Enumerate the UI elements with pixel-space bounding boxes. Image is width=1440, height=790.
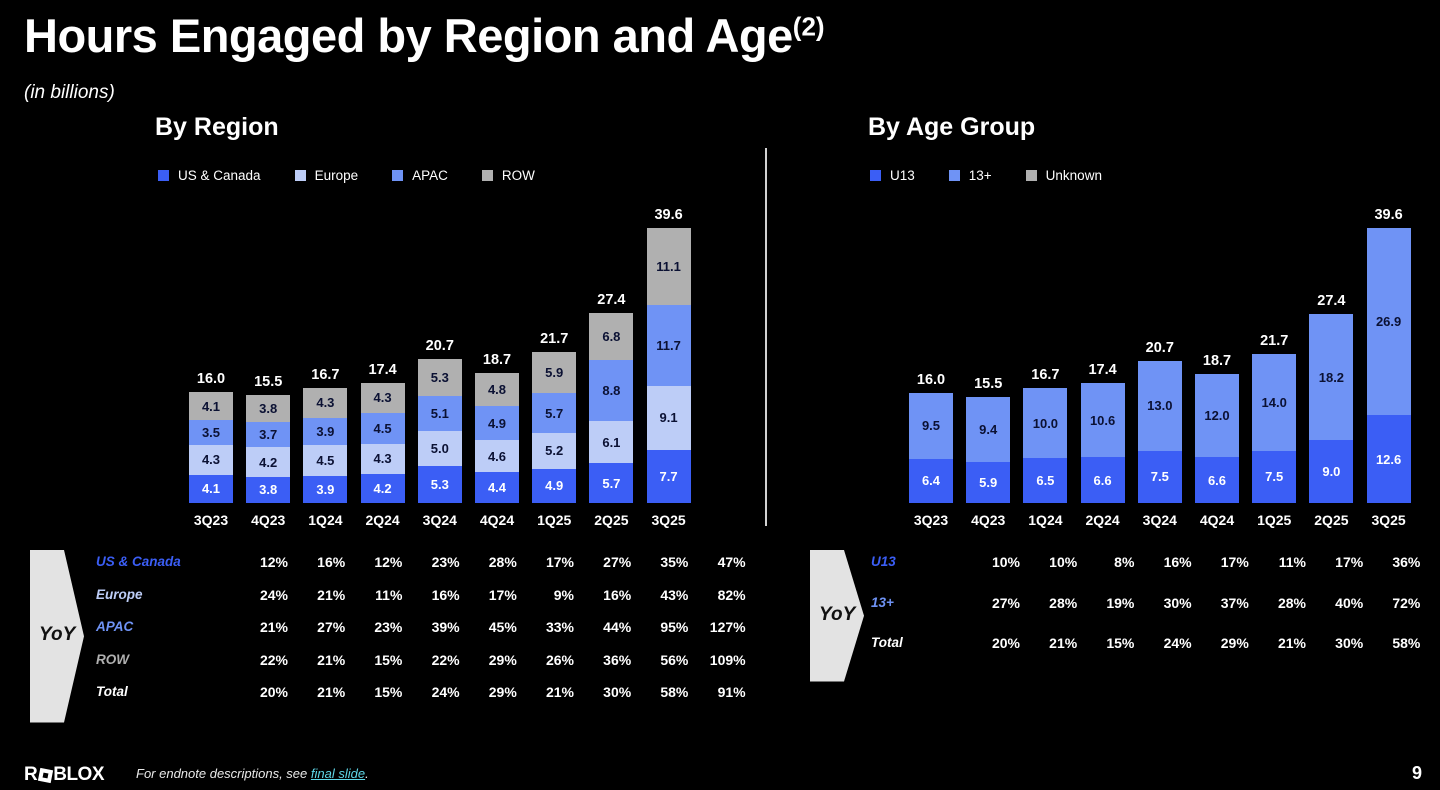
age-segment-13: 9.4 <box>966 397 1010 462</box>
age-total-label: 16.0 <box>909 372 953 388</box>
legend-swatch-icon <box>870 170 881 181</box>
age-yoy-cell: 67% <box>1434 554 1440 570</box>
region-yoy-cell: 23% <box>416 554 460 570</box>
region-yoy-cell: 82% <box>702 587 746 603</box>
region-yoy-cell: 109% <box>702 652 746 668</box>
age-segment-u13: 7.5 <box>1138 451 1182 503</box>
age-bar-2q25[interactable]: 18.29.0 <box>1309 314 1353 503</box>
right-legend-item-u13[interactable]: U13 <box>870 168 915 183</box>
region-yoy-row: US & Canada12%16%12%23%28%17%27%35%47% <box>96 554 759 574</box>
region-segment-apac: 5.7 <box>532 393 576 433</box>
region-yoy-row-label-europe: Europe <box>96 587 143 602</box>
right-legend-item-13[interactable]: 13+ <box>949 168 992 183</box>
age-segment-u13: 6.5 <box>1023 458 1067 503</box>
left-panel-title: By Region <box>155 113 279 142</box>
region-segment-apac: 11.7 <box>647 305 691 386</box>
region-yoy-cell: 21% <box>530 684 574 700</box>
age-yoy-row: Total20%21%15%24%29%21%30%58%91% <box>871 635 1440 655</box>
left-legend-item-europe[interactable]: Europe <box>295 168 359 183</box>
region-bar-3q24[interactable]: 5.35.15.05.3 <box>418 359 462 503</box>
region-total-label: 15.5 <box>246 374 290 390</box>
age-segment-u13: 6.6 <box>1195 457 1239 503</box>
age-yoy-cell: 107% <box>1434 595 1440 611</box>
age-segment-u13: 6.6 <box>1081 457 1125 503</box>
age-yoy-cell: 20% <box>976 635 1020 651</box>
region-yoy-cell: 58% <box>644 684 688 700</box>
age-yoy-cell: 17% <box>1319 554 1363 570</box>
roblox-logo: RBLOX <box>24 764 104 786</box>
age-bar-1q25[interactable]: 14.07.5 <box>1252 354 1296 503</box>
region-segment-europe: 4.6 <box>475 440 519 472</box>
region-yoy-cell: 45% <box>473 619 517 635</box>
age-segment-13: 9.5 <box>909 393 953 459</box>
age-yoy-row-label-13: 13+ <box>871 595 894 610</box>
age-bar-4q23[interactable]: 9.45.9 <box>966 397 1010 503</box>
age-yoy-cell: 29% <box>1205 635 1249 651</box>
region-segment-europe: 4.3 <box>189 445 233 475</box>
region-segment-europe: 5.0 <box>418 431 462 466</box>
region-bar-3q23[interactable]: 4.13.54.34.1 <box>189 392 233 503</box>
legend-label: Europe <box>315 168 359 183</box>
region-segment-apac: 3.9 <box>303 418 347 445</box>
age-yoy-cell: 40% <box>1319 595 1363 611</box>
legend-swatch-icon <box>949 170 960 181</box>
region-segment-apac: 4.9 <box>475 406 519 440</box>
region-yoy-cell: 21% <box>301 587 345 603</box>
right-chart-legend: U1313+Unknown <box>870 168 1136 183</box>
age-yoy-cell: 11% <box>1262 554 1306 570</box>
region-yoy-cell: 35% <box>644 554 688 570</box>
region-total-label: 27.4 <box>589 292 633 308</box>
region-xaxis-label-4q23: 4Q23 <box>246 512 290 528</box>
region-segment-us-canada: 4.2 <box>361 474 405 503</box>
region-bar-2q24[interactable]: 4.34.54.34.2 <box>361 383 405 503</box>
age-segment-u13: 5.9 <box>966 462 1010 503</box>
region-total-label: 20.7 <box>418 338 462 354</box>
region-yoy-cell: 91% <box>702 684 746 700</box>
by-age-group-chart: 9.56.416.03Q239.45.915.54Q2310.06.516.71… <box>900 190 1440 530</box>
age-total-label: 16.7 <box>1023 367 1067 383</box>
age-bar-3q24[interactable]: 13.07.5 <box>1138 361 1182 503</box>
age-bar-4q24[interactable]: 12.06.6 <box>1195 374 1239 503</box>
region-xaxis-label-3q25: 3Q25 <box>647 512 691 528</box>
age-xaxis-label-2q24: 2Q24 <box>1081 512 1125 528</box>
age-yoy-cell: 28% <box>1262 595 1306 611</box>
age-segment-u13: 12.6 <box>1367 415 1411 503</box>
region-xaxis-label-3q23: 3Q23 <box>189 512 233 528</box>
region-yoy-cell: 22% <box>416 652 460 668</box>
page-title-text: Hours Engaged by Region and Age <box>24 9 793 62</box>
region-yoy-cell: 9% <box>530 587 574 603</box>
age-segment-13: 14.0 <box>1252 354 1296 451</box>
region-yoy-row-label-apac: APAC <box>96 619 133 634</box>
region-yoy-cell: 28% <box>473 554 517 570</box>
page-title: Hours Engaged by Region and Age(2) <box>24 8 825 63</box>
region-yoy-cell: 24% <box>416 684 460 700</box>
region-yoy-row: ROW22%21%15%22%29%26%36%56%109% <box>96 652 759 672</box>
region-yoy-cell: 56% <box>644 652 688 668</box>
age-yoy-cell: 28% <box>1033 595 1077 611</box>
age-total-label: 15.5 <box>966 376 1010 392</box>
region-yoy-cell: 47% <box>702 554 746 570</box>
legend-swatch-icon <box>482 170 493 181</box>
region-segment-us-canada: 3.8 <box>246 477 290 503</box>
by-region-chart: 4.13.54.34.116.03Q233.83.74.23.815.54Q23… <box>180 190 725 530</box>
region-yoy-cell: 23% <box>358 619 402 635</box>
region-yoy-cell: 30% <box>587 684 631 700</box>
age-yoy-cell: 37% <box>1205 595 1249 611</box>
age-yoy-row: U1310%10%8%16%17%11%17%36%67% <box>871 554 1440 574</box>
legend-label: US & Canada <box>178 168 261 183</box>
region-yoy-cell: 17% <box>530 554 574 570</box>
age-segment-u13: 7.5 <box>1252 451 1296 503</box>
age-xaxis-label-4q23: 4Q23 <box>966 512 1010 528</box>
region-segment-row: 4.8 <box>475 373 519 406</box>
region-yoy-cell: 95% <box>644 619 688 635</box>
region-yoy-cell: 11% <box>358 587 402 603</box>
region-segment-apac: 3.7 <box>246 422 290 448</box>
region-yoy-cell: 12% <box>244 554 288 570</box>
region-yoy-cell: 27% <box>587 554 631 570</box>
age-yoy-cell: 27% <box>976 595 1020 611</box>
region-yoy-cell: 24% <box>244 587 288 603</box>
legend-label: APAC <box>412 168 448 183</box>
age-xaxis-label-3q24: 3Q24 <box>1138 512 1182 528</box>
left-legend-item-apac[interactable]: APAC <box>392 168 448 183</box>
roblox-logo-post: BLOX <box>53 764 104 786</box>
region-segment-apac: 3.5 <box>189 420 233 444</box>
region-yoy-cell: 21% <box>301 652 345 668</box>
age-yoy-cell: 19% <box>1090 595 1134 611</box>
region-yoy-cell: 21% <box>244 619 288 635</box>
region-segment-row: 11.1 <box>647 228 691 305</box>
age-yoy-cell: 21% <box>1262 635 1306 651</box>
region-yoy-cell: 39% <box>416 619 460 635</box>
region-yoy-cell: 27% <box>301 619 345 635</box>
age-segment-13: 26.9 <box>1367 228 1411 415</box>
age-yoy-row-label-u13: U13 <box>871 554 896 569</box>
footer-note-after: . <box>365 766 369 781</box>
age-yoy-cell: 16% <box>1148 554 1192 570</box>
left-legend-item-us-canada[interactable]: US & Canada <box>158 168 261 183</box>
age-bar-3q23[interactable]: 9.56.4 <box>909 393 953 503</box>
region-segment-europe: 4.3 <box>361 444 405 474</box>
age-yoy-cell: 8% <box>1090 554 1134 570</box>
region-segment-us-canada: 4.4 <box>475 472 519 503</box>
age-total-label: 17.4 <box>1081 362 1125 378</box>
roblox-logo-pre: R <box>24 764 37 786</box>
age-bar-3q25[interactable]: 26.912.6 <box>1367 228 1411 503</box>
left-yoy-table: YoYUS & Canada12%16%12%23%28%17%27%35%47… <box>28 548 728 713</box>
region-yoy-cell: 16% <box>301 554 345 570</box>
page-subtitle: (in billions) <box>24 82 115 104</box>
age-xaxis-label-2q25: 2Q25 <box>1309 512 1353 528</box>
region-yoy-row-label-total: Total <box>96 684 128 699</box>
region-yoy-row-label-row: ROW <box>96 652 129 667</box>
region-xaxis-label-4q24: 4Q24 <box>475 512 519 528</box>
page-title-superscript: (2) <box>793 11 825 41</box>
region-segment-europe: 4.2 <box>246 447 290 476</box>
region-segment-row: 4.3 <box>361 383 405 413</box>
region-segment-europe: 4.5 <box>303 445 347 476</box>
roblox-logo-o-icon <box>38 767 53 782</box>
age-yoy-cell: 10% <box>1033 554 1077 570</box>
region-yoy-cell: 20% <box>244 684 288 700</box>
legend-swatch-icon <box>158 170 169 181</box>
age-yoy-cell: 36% <box>1376 554 1420 570</box>
legend-swatch-icon <box>1026 170 1037 181</box>
page-number: 9 <box>1412 763 1422 784</box>
age-segment-u13: 6.4 <box>909 459 953 503</box>
region-yoy-cell: 15% <box>358 684 402 700</box>
region-total-label: 18.7 <box>475 352 519 368</box>
age-total-label: 39.6 <box>1367 207 1411 223</box>
age-yoy-row-label-total: Total <box>871 635 903 650</box>
region-segment-us-canada: 3.9 <box>303 476 347 503</box>
region-xaxis-label-2q25: 2Q25 <box>589 512 633 528</box>
region-segment-row: 4.3 <box>303 388 347 418</box>
region-total-label: 39.6 <box>647 207 691 223</box>
footer-note: For endnote descriptions, see final slid… <box>136 766 369 781</box>
age-yoy-cell: 72% <box>1376 595 1420 611</box>
age-total-label: 20.7 <box>1138 340 1182 356</box>
region-yoy-arrow-label: YoY <box>39 624 75 646</box>
region-segment-us-canada: 5.7 <box>589 463 633 503</box>
region-yoy-cell: 44% <box>587 619 631 635</box>
region-yoy-cell: 127% <box>702 619 746 635</box>
region-yoy-cell: 33% <box>530 619 574 635</box>
region-xaxis-label-2q24: 2Q24 <box>361 512 405 528</box>
age-yoy-cell: 17% <box>1205 554 1249 570</box>
legend-label: U13 <box>890 168 915 183</box>
age-xaxis-label-3q25: 3Q25 <box>1367 512 1411 528</box>
age-segment-13: 10.0 <box>1023 388 1067 458</box>
region-bar-4q24[interactable]: 4.84.94.64.4 <box>475 373 519 503</box>
right-panel-title: By Age Group <box>868 113 1035 142</box>
age-xaxis-label-1q24: 1Q24 <box>1023 512 1067 528</box>
region-yoy-cell: 12% <box>358 554 402 570</box>
region-yoy-cell: 26% <box>530 652 574 668</box>
legend-label: Unknown <box>1046 168 1102 183</box>
age-segment-u13: 9.0 <box>1309 440 1353 503</box>
region-yoy-row: Europe24%21%11%16%17%9%16%43%82% <box>96 587 759 607</box>
region-segment-row: 6.8 <box>589 313 633 360</box>
region-segment-europe: 5.2 <box>532 433 576 469</box>
region-segment-us-canada: 5.3 <box>418 466 462 503</box>
region-segment-us-canada: 4.9 <box>532 469 576 503</box>
age-segment-13: 18.2 <box>1309 314 1353 440</box>
region-yoy-row: Total20%21%15%24%29%21%30%58%91% <box>96 684 759 704</box>
region-yoy-cell: 43% <box>644 587 688 603</box>
region-yoy-cell: 29% <box>473 652 517 668</box>
age-total-label: 21.7 <box>1252 333 1296 349</box>
region-segment-row: 5.3 <box>418 359 462 396</box>
slide: Hours Engaged by Region and Age(2) (in b… <box>0 0 1440 790</box>
age-xaxis-label-4q24: 4Q24 <box>1195 512 1239 528</box>
age-total-label: 27.4 <box>1309 293 1353 309</box>
region-yoy-cell: 22% <box>244 652 288 668</box>
age-bar-1q24[interactable]: 10.06.5 <box>1023 388 1067 503</box>
region-bar-3q25[interactable]: 11.111.79.17.7 <box>647 228 691 503</box>
region-segment-row: 5.9 <box>532 352 576 393</box>
region-yoy-cell: 29% <box>473 684 517 700</box>
region-total-label: 17.4 <box>361 362 405 378</box>
region-yoy-cell: 16% <box>587 587 631 603</box>
region-total-label: 16.7 <box>303 367 347 383</box>
region-yoy-cell: 15% <box>358 652 402 668</box>
region-segment-apac: 8.8 <box>589 360 633 421</box>
age-yoy-cell: 15% <box>1090 635 1134 651</box>
age-xaxis-label-3q23: 3Q23 <box>909 512 953 528</box>
age-yoy-cell: 30% <box>1148 595 1192 611</box>
region-yoy-cell: 21% <box>301 684 345 700</box>
region-xaxis-label-1q24: 1Q24 <box>303 512 347 528</box>
region-segment-apac: 4.5 <box>361 413 405 444</box>
legend-label: 13+ <box>969 168 992 183</box>
age-segment-13: 10.6 <box>1081 383 1125 457</box>
left-legend-item-row[interactable]: ROW <box>482 168 535 183</box>
region-segment-europe: 9.1 <box>647 386 691 449</box>
left-chart-legend: US & CanadaEuropeAPACROW <box>158 168 569 183</box>
region-xaxis-label-1q25: 1Q25 <box>532 512 576 528</box>
region-bar-2q25[interactable]: 6.88.86.15.7 <box>589 313 633 503</box>
age-yoy-arrow-label: YoY <box>819 604 855 626</box>
legend-swatch-icon <box>295 170 306 181</box>
age-xaxis-label-1q25: 1Q25 <box>1252 512 1296 528</box>
age-yoy-cell: 24% <box>1148 635 1192 651</box>
legend-swatch-icon <box>392 170 403 181</box>
age-total-label: 18.7 <box>1195 353 1239 369</box>
region-segment-us-canada: 7.7 <box>647 450 691 504</box>
age-bar-2q24[interactable]: 10.66.6 <box>1081 383 1125 503</box>
region-xaxis-label-3q24: 3Q24 <box>418 512 462 528</box>
region-yoy-cell: 36% <box>587 652 631 668</box>
region-total-label: 21.7 <box>532 331 576 347</box>
final-slide-link[interactable]: final slide <box>311 766 365 781</box>
panel-divider <box>765 148 767 526</box>
right-legend-item-unknown[interactable]: Unknown <box>1026 168 1102 183</box>
region-yoy-row: APAC21%27%23%39%45%33%44%95%127% <box>96 619 759 639</box>
footer-note-before: For endnote descriptions, see <box>136 766 311 781</box>
region-yoy-row-label-us-canada: US & Canada <box>96 554 181 569</box>
age-yoy-cell: 10% <box>976 554 1020 570</box>
age-yoy-cell: 58% <box>1376 635 1420 651</box>
age-yoy-row: 13+27%28%19%30%37%28%40%72%107% <box>871 595 1440 615</box>
age-yoy-cell: 21% <box>1033 635 1077 651</box>
region-segment-us-canada: 4.1 <box>189 475 233 503</box>
region-bar-1q25[interactable]: 5.95.75.24.9 <box>532 352 576 503</box>
age-segment-13: 12.0 <box>1195 374 1239 457</box>
region-segment-europe: 6.1 <box>589 421 633 463</box>
region-segment-apac: 5.1 <box>418 396 462 431</box>
age-yoy-cell: 30% <box>1319 635 1363 651</box>
age-segment-13: 13.0 <box>1138 361 1182 451</box>
region-segment-row: 3.8 <box>246 395 290 421</box>
region-yoy-cell: 17% <box>473 587 517 603</box>
region-segment-row: 4.1 <box>189 392 233 420</box>
age-yoy-cell: 91% <box>1434 635 1440 651</box>
region-yoy-cell: 16% <box>416 587 460 603</box>
right-yoy-table: YoYU1310%10%8%16%17%11%17%36%67%13+27%28… <box>808 548 1428 658</box>
region-bar-1q24[interactable]: 4.33.94.53.9 <box>303 388 347 503</box>
legend-label: ROW <box>502 168 535 183</box>
region-bar-4q23[interactable]: 3.83.74.23.8 <box>246 395 290 503</box>
region-total-label: 16.0 <box>189 371 233 387</box>
